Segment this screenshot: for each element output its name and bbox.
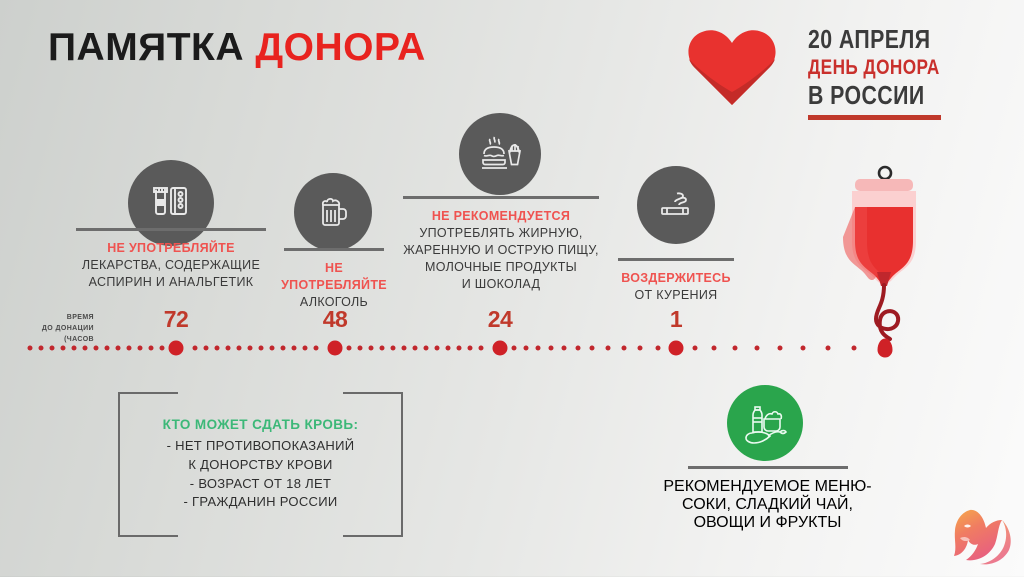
timeline-dot — [621, 346, 626, 351]
timeline-dot — [105, 346, 110, 351]
caption-rule — [618, 258, 734, 261]
timeline-dot — [535, 346, 540, 351]
timeline-marker-dot — [669, 341, 684, 356]
timeline-dot — [692, 346, 697, 351]
timeline-dot — [193, 346, 198, 351]
date-line-3: В РОССИИ — [808, 82, 931, 108]
timeline-dot — [281, 346, 286, 351]
timeline-dot — [270, 346, 275, 351]
timeline-dot — [138, 346, 143, 351]
timeline-dot — [380, 346, 385, 351]
timeline-dot — [160, 346, 165, 351]
timeline-dot — [561, 346, 566, 351]
eligibility-heading: КТО МОЖЕТ СДАТЬ КРОВЬ: — [163, 417, 359, 432]
timeline-dot — [391, 346, 396, 351]
page-title-red: ДОНОРА — [255, 26, 425, 69]
timeline-dot — [204, 346, 209, 351]
advice-caption-food: НЕ РЕКОМЕНДУЕТСЯ УПОТРЕБЛЯТЬ ЖИРНУЮ, ЖАР… — [378, 196, 624, 292]
timeline-dot — [424, 346, 429, 351]
timeline-marker-dot — [493, 341, 508, 356]
timeline-dot — [826, 346, 831, 351]
menu-body-line: ОВОЩИ И ФРУКТЫ — [655, 514, 880, 532]
menu-body-line: СОКИ, СЛАДКИЙ ЧАЙ, — [655, 496, 880, 514]
axis-label-line: ВРЕМЯ — [14, 313, 94, 324]
date-underline — [808, 115, 941, 120]
timeline-dot — [712, 346, 717, 351]
timeline-dot — [215, 346, 220, 351]
timeline-dot — [248, 346, 253, 351]
timeline-dot — [314, 346, 319, 351]
advice-body-line: УПОТРЕБЛЯТЬ ЖИРНУЮ, — [378, 225, 624, 242]
timeline-dot — [777, 346, 782, 351]
timeline-dot — [61, 346, 66, 351]
timeline-dot — [457, 346, 462, 351]
advice-headline: НЕ РЕКОМЕНДУЕТСЯ — [378, 208, 624, 225]
eligibility-item: К ДОНОРСТВУ КРОВИ — [188, 456, 332, 475]
timeline-dot — [655, 346, 660, 351]
timeline-marker-dot — [169, 341, 184, 356]
timeline-dot — [733, 346, 738, 351]
timeline-dot — [358, 346, 363, 351]
horse-head-logo — [940, 498, 1016, 572]
advice-caption-medicine: НЕ УПОТРЕБЛЯЙТЕ ЛЕКАРСТВА, СОДЕРЖАЩИЕ АС… — [45, 228, 297, 291]
timeline-number: 48 — [323, 306, 348, 333]
timeline-dot — [292, 346, 297, 351]
fast-food-icon — [476, 131, 524, 177]
timeline-dot — [548, 346, 553, 351]
infographic-canvas: ПАМЯТКА ДОНОРА 20 АПРЕЛЯ ДЕНЬ ДОНОРА В Р… — [0, 0, 1024, 576]
eligibility-item: - ГРАЖДАНИН РОССИИ — [183, 493, 337, 512]
date-line-1: 20 АПРЕЛЯ — [808, 26, 931, 52]
timeline-dot — [801, 346, 806, 351]
advice-headline: НЕ УПОТРЕБЛЯЙТЕ — [275, 260, 393, 294]
timeline-marker-dot — [328, 341, 343, 356]
timeline-dot — [468, 346, 473, 351]
timeline-dot — [479, 346, 484, 351]
timeline-dot — [435, 346, 440, 351]
page-title: ПАМЯТКА ДОНОРА — [48, 26, 426, 70]
blood-drop-icon — [878, 339, 893, 358]
timeline-dot — [413, 346, 418, 351]
timeline-dot — [369, 346, 374, 351]
timeline-dot — [50, 346, 55, 351]
timeline-number: 1 — [670, 306, 682, 333]
donor-day-date: 20 АПРЕЛЯ ДЕНЬ ДОНОРА В РОССИИ — [808, 26, 958, 120]
timeline-dot — [512, 346, 517, 351]
advice-headline: ВОЗДЕРЖИТЕСЬ — [598, 270, 754, 287]
advice-body-line: ЖАРЕННУЮ И ОСТРУЮ ПИЩУ, — [378, 242, 624, 259]
timeline-dot — [149, 346, 154, 351]
timeline-dot — [127, 346, 132, 351]
timeline-dot — [39, 346, 44, 351]
timeline-number: 72 — [164, 306, 189, 333]
timeline-dot — [852, 346, 857, 351]
caption-rule — [76, 228, 266, 231]
advice-circle-smoking — [637, 166, 715, 244]
advice-body-line: МОЛОЧНЫЕ ПРОДУКТЫ — [378, 259, 624, 276]
timeline-dot — [303, 346, 308, 351]
timeline-number: 24 — [488, 306, 513, 333]
caption-rule — [284, 248, 384, 251]
advice-circle-alcohol — [294, 173, 372, 251]
timeline-dot — [523, 346, 528, 351]
advice-caption-alcohol: НЕ УПОТРЕБЛЯЙТЕ АЛКОГОЛЬ — [275, 248, 393, 311]
beer-mug-icon — [312, 191, 354, 233]
medicine-icon — [147, 179, 195, 227]
menu-circle-vegetables — [727, 385, 803, 461]
timeline-dot — [226, 346, 231, 351]
timeline-dot — [116, 346, 121, 351]
timeline-dot — [446, 346, 451, 351]
timeline-dot — [83, 346, 88, 351]
cigarette-icon — [654, 183, 698, 227]
caption-rule — [403, 196, 599, 199]
timeline-dot — [94, 346, 99, 351]
date-line-2: ДЕНЬ ДОНОРА — [808, 57, 931, 78]
timeline — [0, 334, 1024, 362]
timeline-dot — [605, 346, 610, 351]
advice-body-line: АСПИРИН И АНАЛЬГЕТИК — [45, 274, 297, 291]
timeline-dot — [237, 346, 242, 351]
advice-body-line: ЛЕКАРСТВА, СОДЕРЖАЩИЕ — [45, 257, 297, 274]
eligibility-box: КТО МОЖЕТ СДАТЬ КРОВЬ: - НЕТ ПРОТИВОПОКА… — [118, 392, 403, 537]
advice-body-line: И ШОКОЛАД — [378, 276, 624, 293]
timeline-dot — [575, 346, 580, 351]
timeline-dot — [347, 346, 352, 351]
advice-body-line: ОТ КУРЕНИЯ — [598, 287, 754, 304]
timeline-dot — [28, 346, 33, 351]
advice-circle-food — [459, 113, 541, 195]
eligibility-item: - НЕТ ПРОТИВОПОКАЗАНИЙ — [167, 437, 355, 456]
eligibility-item: - ВОЗРАСТ ОТ 18 ЛЕТ — [190, 475, 331, 494]
page-title-black: ПАМЯТКА — [48, 26, 244, 69]
menu-headline: РЕКОМЕНДУЕМОЕ МЕНЮ- — [655, 478, 880, 496]
timeline-dot — [590, 346, 595, 351]
heart-icon — [686, 25, 778, 107]
menu-caption: РЕКОМЕНДУЕМОЕ МЕНЮ- СОКИ, СЛАДКИЙ ЧАЙ, О… — [655, 466, 880, 532]
timeline-dot — [754, 346, 759, 351]
advice-headline: НЕ УПОТРЕБЛЯЙТЕ — [45, 240, 297, 257]
vegetables-icon — [742, 401, 788, 445]
timeline-dot — [259, 346, 264, 351]
timeline-dot — [638, 346, 643, 351]
caption-rule — [688, 466, 848, 469]
timeline-dot — [402, 346, 407, 351]
timeline-dot — [72, 346, 77, 351]
advice-caption-smoking: ВОЗДЕРЖИТЕСЬ ОТ КУРЕНИЯ — [598, 258, 754, 304]
blood-bag-icon — [824, 163, 944, 348]
